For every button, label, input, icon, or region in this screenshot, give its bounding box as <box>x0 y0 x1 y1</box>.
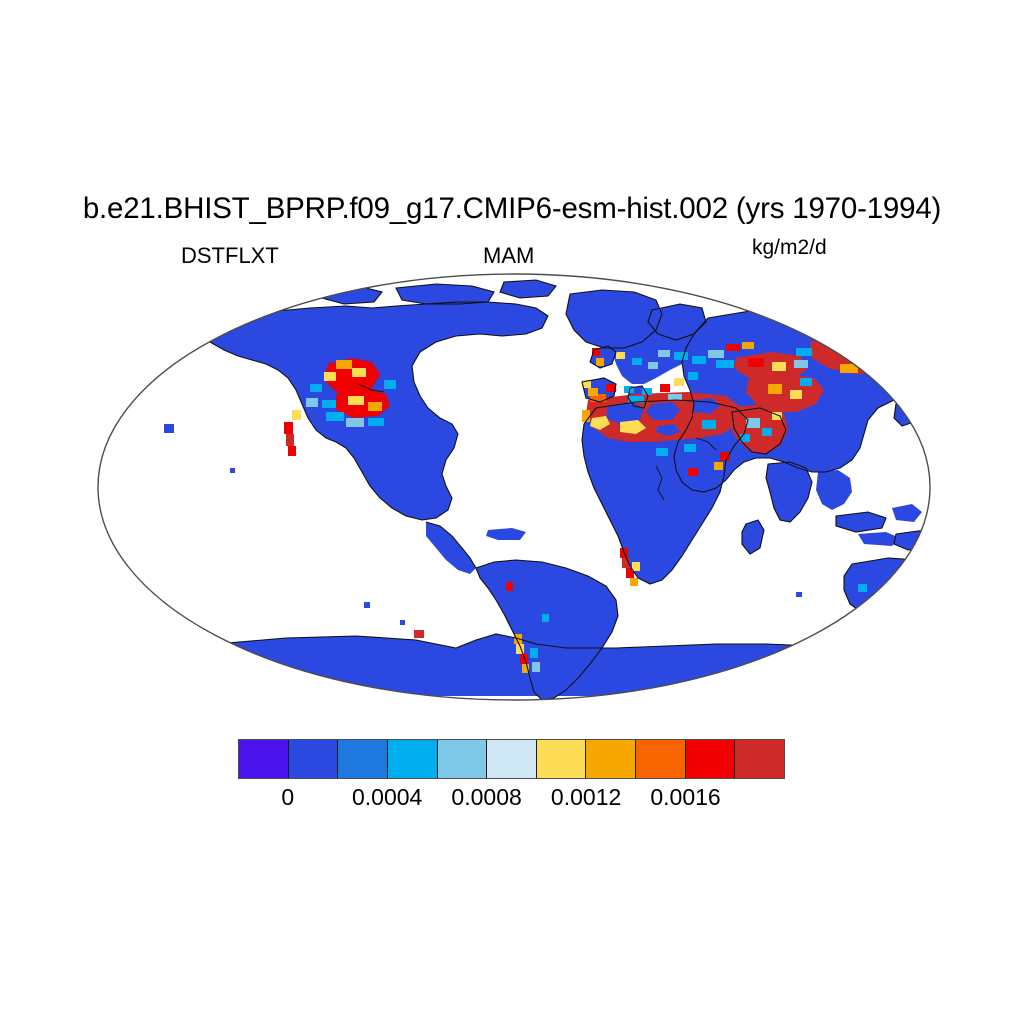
colorbar-tick-4: 0.0016 <box>650 784 720 810</box>
colorbar-segment-7[interactable] <box>586 740 636 778</box>
colorbar-tick-2: 0.0008 <box>451 784 521 810</box>
colorbar-segment-3[interactable] <box>388 740 438 778</box>
colorbar-segment-4[interactable] <box>438 740 488 778</box>
colorbar-tick-0: 0 <box>281 784 294 810</box>
units-label: kg/m2/d <box>752 235 827 261</box>
colorbar-tick-labels: 00.00040.00080.00120.0016 <box>238 784 785 812</box>
figure-canvas: b.e21.BHIST_BPRP.f09_g17.CMIP6-esm-hist.… <box>0 0 1024 1024</box>
hotspot-antarctic-peninsula <box>414 630 424 638</box>
colorbar-segment-5[interactable] <box>487 740 537 778</box>
colorbar-segment-0[interactable] <box>239 740 289 778</box>
colorbar-segment-10[interactable] <box>735 740 784 778</box>
colorbar[interactable] <box>238 739 785 779</box>
season-label: MAM <box>483 243 534 269</box>
map-data-layer <box>96 272 932 702</box>
colorbar-segment-2[interactable] <box>338 740 388 778</box>
world-map-panel <box>96 272 932 702</box>
colorbar-segment-8[interactable] <box>636 740 686 778</box>
colorbar-tick-3: 0.0012 <box>551 784 621 810</box>
colorbar-segment-9[interactable] <box>686 740 736 778</box>
colorbar-segment-1[interactable] <box>289 740 339 778</box>
page-title: b.e21.BHIST_BPRP.f09_g17.CMIP6-esm-hist.… <box>0 192 1024 226</box>
colorbar-segment-6[interactable] <box>537 740 587 778</box>
variable-name-label: DSTFLXT <box>181 243 279 269</box>
colorbar-tick-1: 0.0004 <box>352 784 422 810</box>
world-map-svg <box>96 272 932 702</box>
